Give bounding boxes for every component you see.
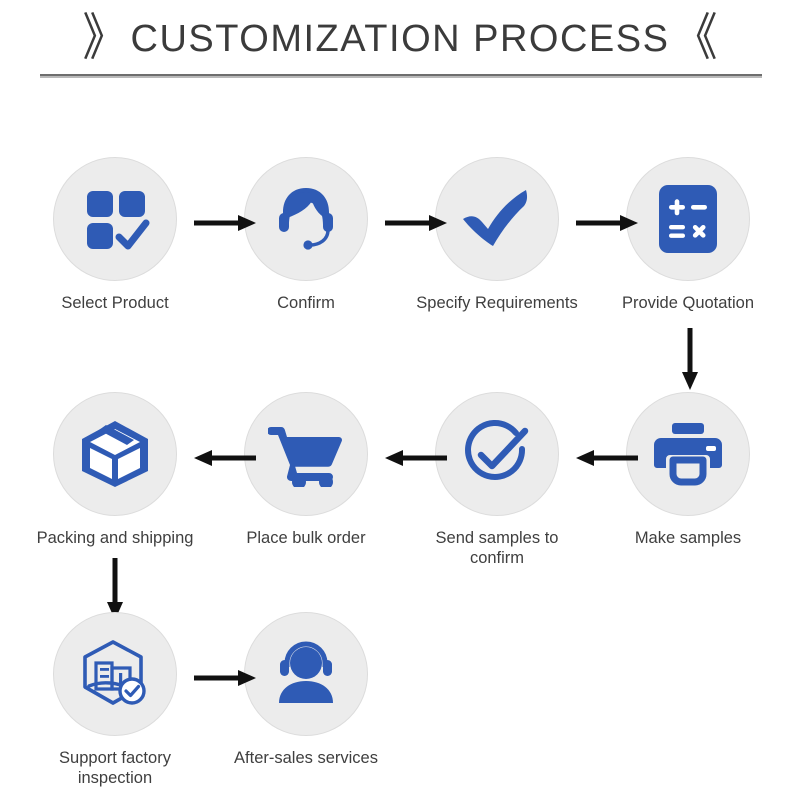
support-person-headset-icon: [269, 641, 343, 707]
grid-check-icon: [79, 183, 151, 255]
step-select-product[interactable]: Select Product: [31, 157, 199, 313]
chevron-right-decoration-icon: 》: [83, 14, 127, 65]
step-packing-and-shipping[interactable]: Packing and shipping: [31, 392, 199, 548]
step-icon-circle: [626, 392, 750, 516]
headset-agent-icon: [269, 182, 343, 256]
step-provide-quotation[interactable]: Provide Quotation: [604, 157, 772, 313]
page-header: 》 CUSTOMIZATION PROCESS 《: [0, 0, 800, 96]
step-icon-circle: [53, 612, 177, 736]
arrow-confirm-to-specify: [385, 212, 447, 234]
step-confirm[interactable]: Confirm: [222, 157, 390, 313]
step-make-samples[interactable]: Make samples: [604, 392, 772, 548]
chevron-left-decoration-icon: 《: [673, 14, 717, 65]
step-icon-circle: [435, 392, 559, 516]
arrow-makesamples-to-sendsamples: [576, 447, 638, 469]
check-circle-icon: [459, 417, 535, 491]
arrow-sendsamples-to-bulkorder: [385, 447, 447, 469]
step-after-sales-services[interactable]: After-sales services: [222, 612, 390, 768]
step-specify-requirements[interactable]: Specify Requirements: [413, 157, 581, 313]
step-icon-circle: [435, 157, 559, 281]
step-place-bulk-order[interactable]: Place bulk order: [222, 392, 390, 548]
package-box-icon: [78, 417, 152, 491]
factory-inspection-shield-icon: [77, 637, 153, 711]
step-icon-circle: [626, 157, 750, 281]
step-label: Make samples: [635, 528, 741, 548]
header-divider: [40, 74, 762, 78]
step-label: Send samples to confirm: [413, 528, 581, 568]
arrow-select-to-confirm: [194, 212, 256, 234]
arrow-specify-to-quotation: [576, 212, 638, 234]
arrow-quotation-to-samples: [679, 328, 701, 390]
step-send-samples-to-confirm[interactable]: Send samples to confirm: [413, 392, 581, 568]
step-label: Provide Quotation: [622, 293, 754, 313]
printer-icon: [651, 420, 725, 488]
calculator-icon: [655, 181, 721, 257]
title-row: 》 CUSTOMIZATION PROCESS 《: [0, 8, 800, 70]
step-icon-circle: [244, 157, 368, 281]
step-label: Packing and shipping: [37, 528, 194, 548]
step-icon-circle: [53, 392, 177, 516]
step-label: After-sales services: [234, 748, 378, 768]
checkmark-icon: [458, 184, 536, 254]
page-title: CUSTOMIZATION PROCESS: [131, 18, 670, 61]
step-icon-circle: [53, 157, 177, 281]
process-flow-diagram: Select Product Confirm Specify Requireme…: [0, 96, 800, 800]
step-label: Place bulk order: [246, 528, 365, 548]
step-label: Confirm: [277, 293, 335, 313]
step-icon-circle: [244, 612, 368, 736]
step-icon-circle: [244, 392, 368, 516]
step-label: Support factory inspection: [59, 748, 171, 788]
arrow-bulkorder-to-packing: [194, 447, 256, 469]
step-support-factory-inspection[interactable]: Support factory inspection: [31, 612, 199, 788]
arrow-packing-to-inspection: [104, 558, 126, 620]
step-label: Specify Requirements: [416, 293, 577, 313]
shopping-cart-icon: [268, 421, 344, 487]
arrow-inspection-to-aftersales: [194, 667, 256, 689]
step-label: Select Product: [61, 293, 168, 313]
